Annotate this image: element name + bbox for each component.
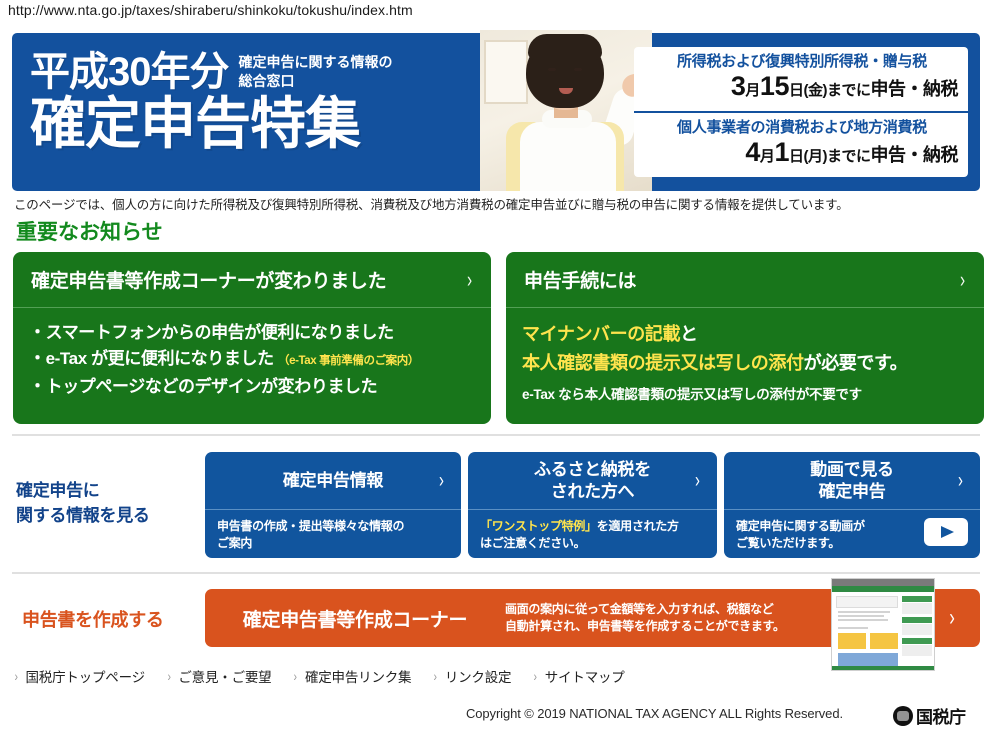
footer-link-linkshu[interactable]: › 確定申告リンク集 bbox=[293, 666, 411, 686]
card-header[interactable]: 確定申告情報 › bbox=[205, 452, 461, 510]
deadline-action: 申告・納税 bbox=[871, 79, 959, 99]
notice-footnote: e-Tax なら本人確認書類の提示又は写しの添付が不要です bbox=[522, 384, 968, 406]
notice-line-2-rest: が必要です。 bbox=[804, 353, 908, 373]
chevron-right-icon: › bbox=[960, 269, 965, 291]
card-title: 動画で見る 確定申告 bbox=[810, 459, 894, 503]
notice-body: マイナンバーの記載と 本人確認書類の提示又は写しの添付が必要です。 e-Tax … bbox=[506, 308, 984, 424]
card-description: 確定申告に関する動画が ご覧いただけます。 bbox=[724, 510, 980, 558]
hero-subtitle: 確定申告に関する情報の 総合窓口 bbox=[239, 53, 393, 91]
deadline-tail: までに bbox=[827, 148, 871, 165]
hero-year: 平成30年分 bbox=[30, 49, 229, 95]
deadline-row-consumption-tax: 個人事業者の消費税および地方消費税 4月1日(月)までに申告・納税 bbox=[634, 111, 968, 177]
deadline-date: 3月15日(金)までに申告・納税 bbox=[646, 71, 958, 106]
chevron-right-icon: › bbox=[695, 469, 700, 493]
chevron-right-icon: › bbox=[294, 668, 297, 684]
notice-line-2: 本人確認書類の提示又は写しの添付が必要です。 bbox=[522, 349, 968, 378]
footer-link-label: 確定申告リンク集 bbox=[305, 666, 411, 686]
notice-header[interactable]: 確定申告書等作成コーナーが変わりました › bbox=[13, 252, 491, 308]
card-kakutei-shinkoku-joho[interactable]: 確定申告情報 › 申告書の作成・提出等様々な情報の ご案内 bbox=[205, 452, 461, 558]
hero-title: 確定申告特集 bbox=[30, 93, 490, 155]
deadline-date: 4月1日(月)までに申告・納税 bbox=[646, 137, 958, 172]
footer-link-link-settings[interactable]: › リンク設定 bbox=[433, 666, 511, 686]
address-bar-url[interactable]: http://www.nta.go.jp/taxes/shiraberu/shi… bbox=[8, 2, 413, 18]
chevron-right-icon: › bbox=[932, 604, 971, 632]
notice-bullet-text: ・トップページなどのデザインが変わりました bbox=[29, 377, 377, 396]
hero-photo bbox=[480, 30, 652, 191]
card-desc-line1: 申告書の作成・提出等様々な情報の bbox=[217, 518, 449, 535]
deadline-heading: 個人事業者の消費税および地方消費税 bbox=[646, 118, 958, 137]
copyright-text: Copyright © 2019 NATIONAL TAX AGENCY ALL… bbox=[466, 706, 843, 721]
card-desc-highlight: 「ワンストップ特例」 bbox=[480, 519, 597, 533]
footer-link-label: 国税庁トップページ bbox=[25, 666, 144, 686]
create-button-title: 確定申告書等作成コーナー bbox=[205, 605, 505, 632]
info-row-label: 確定申告に 関する情報を見る bbox=[16, 478, 196, 528]
nta-logo-text: 国税庁 bbox=[916, 703, 966, 728]
footer-links: › 国税庁トップページ › ご意見・ご要望 › 確定申告リンク集 › リンク設定… bbox=[14, 666, 647, 686]
notice-bullet-text: ・スマートフォンからの申告が便利になりました bbox=[29, 323, 394, 342]
card-title-line2: 確定申告 bbox=[810, 481, 894, 503]
card-description: 「ワンストップ特例」を適用された方 はご注意ください。 bbox=[468, 510, 717, 558]
deadline-action: 申告・納税 bbox=[871, 145, 959, 165]
divider-bottom bbox=[12, 572, 980, 574]
notice-body: ・スマートフォンからの申告が便利になりました ・e-Tax が更に便利になりまし… bbox=[13, 308, 491, 424]
deadline-day: 15 bbox=[760, 71, 789, 101]
card-title: 確定申告情報 bbox=[283, 470, 383, 492]
hero-subtitle-line2: 総合窓口 bbox=[239, 72, 393, 91]
footer-link-sitemap[interactable]: › サイトマップ bbox=[533, 666, 624, 686]
notice-panel-shinkoku-tetsuzuki[interactable]: 申告手続には › マイナンバーの記載と 本人確認書類の提示又は写しの添付が必要で… bbox=[506, 252, 984, 424]
footer-link-label: サイトマップ bbox=[545, 666, 625, 686]
card-header[interactable]: 動画で見る 確定申告 › bbox=[724, 452, 980, 510]
deadline-tail: までに bbox=[827, 82, 871, 99]
chevron-right-icon: › bbox=[534, 668, 537, 684]
deadline-weekday: (金) bbox=[803, 82, 827, 99]
chevron-right-icon: › bbox=[434, 668, 437, 684]
notice-header[interactable]: 申告手続には › bbox=[506, 252, 984, 308]
chevron-right-icon: › bbox=[167, 668, 170, 684]
chevron-right-icon: › bbox=[439, 469, 444, 493]
page-root: http://www.nta.go.jp/taxes/shiraberu/shi… bbox=[0, 0, 992, 745]
footer-link-label: リンク設定 bbox=[445, 666, 512, 686]
notice-title: 申告手続には bbox=[524, 266, 636, 293]
notice-bullet-text: ・e-Tax が更に便利になりました bbox=[29, 349, 274, 368]
footer-link-label: ご意見・ご要望 bbox=[178, 666, 271, 686]
divider-top bbox=[12, 434, 980, 436]
card-desc-line2: はご注意ください。 bbox=[480, 535, 705, 552]
hero-banner: 平成30年分 確定申告に関する情報の 総合窓口 確定申告特集 bbox=[12, 33, 980, 191]
card-header[interactable]: ふるさと納税を された方へ › bbox=[468, 452, 717, 510]
card-description: 申告書の作成・提出等様々な情報の ご案内 bbox=[205, 510, 461, 558]
deadline-day: 1 bbox=[774, 137, 789, 167]
card-furusato-nozei[interactable]: ふるさと納税を された方へ › 「ワンストップ特例」を適用された方 はご注意くだ… bbox=[468, 452, 717, 558]
notice-bullet-note[interactable]: （e-Tax 事前準備のご案内） bbox=[278, 355, 419, 367]
notice-line-1-rest: と bbox=[680, 324, 698, 344]
chevron-right-icon: › bbox=[467, 269, 472, 291]
lead-paragraph: このページでは、個人の方に向けた所得税及び復興特別所得税、消費税及び地方消費税の… bbox=[14, 194, 849, 213]
page-section-heading: 重要なお知らせ bbox=[16, 216, 163, 246]
notice-bullet: ・e-Tax が更に便利になりました （e-Tax 事前準備のご案内） bbox=[29, 346, 475, 374]
deadline-month-unit: 月 bbox=[760, 148, 775, 165]
notice-bullet: ・トップページなどのデザインが変わりました bbox=[29, 374, 475, 400]
card-desc-line1: 「ワンストップ特例」を適用された方 bbox=[480, 518, 705, 535]
info-row-label-line2: 関する情報を見る bbox=[16, 503, 196, 528]
deadline-month: 4 bbox=[745, 137, 760, 167]
site-screenshot-thumbnail bbox=[831, 578, 935, 671]
deadline-panel: 所得税および復興特別所得税・贈与税 3月15日(金)までに申告・納税 個人事業者… bbox=[634, 47, 968, 177]
chevron-right-icon: › bbox=[15, 668, 18, 684]
deadline-weekday: (月) bbox=[803, 148, 827, 165]
hero-subtitle-line1: 確定申告に関する情報の bbox=[239, 53, 393, 72]
info-row-label-line1: 確定申告に bbox=[16, 478, 196, 503]
notice-panel-sakusei-corner[interactable]: 確定申告書等作成コーナーが変わりました › ・スマートフォンからの申告が便利にな… bbox=[13, 252, 491, 424]
notice-title: 確定申告書等作成コーナーが変わりました bbox=[31, 266, 386, 293]
play-video-icon[interactable] bbox=[924, 518, 968, 546]
card-desc-line2: ご案内 bbox=[217, 535, 449, 552]
deadline-day-unit: 日 bbox=[789, 148, 804, 165]
nta-logo-icon bbox=[893, 706, 913, 726]
create-row-label: 申告書を作成する bbox=[22, 608, 164, 633]
card-title: ふるさと納税を された方へ bbox=[534, 459, 651, 503]
deadline-day-unit: 日 bbox=[789, 82, 804, 99]
notice-line-1-highlight: マイナンバーの記載 bbox=[522, 324, 680, 344]
footer-link-nta-top[interactable]: › 国税庁トップページ bbox=[14, 666, 145, 686]
chevron-right-icon: › bbox=[958, 469, 963, 493]
card-title-line1: 動画で見る bbox=[810, 459, 894, 481]
deadline-month: 3 bbox=[731, 71, 746, 101]
hero-text-block: 平成30年分 確定申告に関する情報の 総合窓口 確定申告特集 bbox=[30, 49, 490, 155]
deadline-heading: 所得税および復興特別所得税・贈与税 bbox=[646, 52, 958, 71]
card-desc-line1-text: を適用された方 bbox=[597, 519, 679, 533]
notice-line-1: マイナンバーの記載と bbox=[522, 320, 968, 349]
footer-link-opinions[interactable]: › ご意見・ご要望 bbox=[167, 666, 272, 686]
notice-bullet: ・スマートフォンからの申告が便利になりました bbox=[29, 320, 475, 346]
deadline-row-income-tax: 所得税および復興特別所得税・贈与税 3月15日(金)までに申告・納税 bbox=[634, 47, 968, 111]
deadline-month-unit: 月 bbox=[745, 82, 760, 99]
card-douga-de-miru[interactable]: 動画で見る 確定申告 › 確定申告に関する動画が ご覧いただけます。 bbox=[724, 452, 980, 558]
notice-line-2-highlight: 本人確認書類の提示又は写しの添付 bbox=[522, 353, 804, 373]
nta-logo: 国税庁 bbox=[893, 703, 966, 728]
card-title-line1: ふるさと納税を bbox=[534, 459, 651, 481]
card-title-line1: 確定申告情報 bbox=[283, 470, 383, 492]
card-title-line2: された方へ bbox=[534, 481, 651, 503]
